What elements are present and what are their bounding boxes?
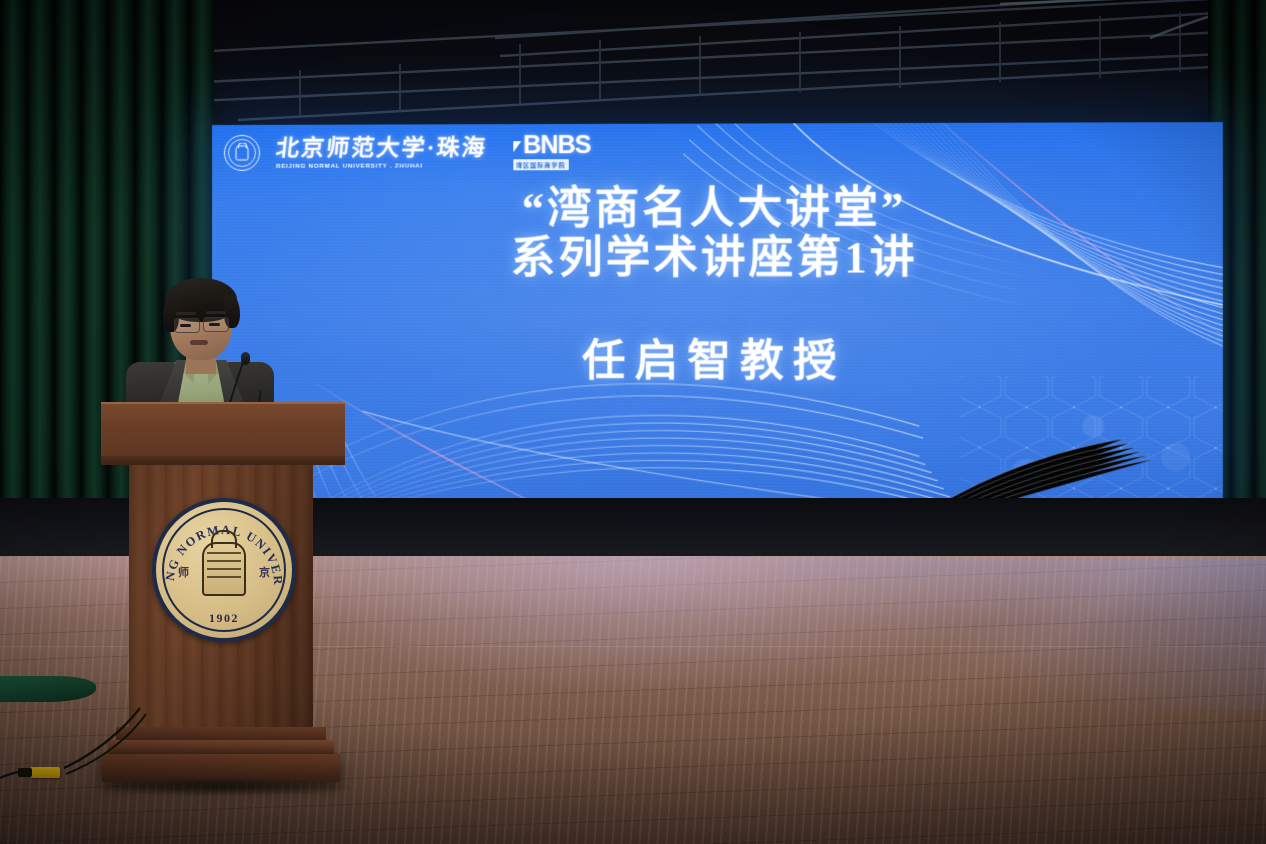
bnu-podium-emblem: BEIJING NORMAL UNIVERSITY 师 京 1902 [152, 498, 296, 642]
speaker-brow-right [206, 311, 226, 314]
auditorium-stage-scene: 北京师范大学·珠海 BEIJING NORMAL UNIVERSITY . ZH… [0, 0, 1266, 844]
green-floor-cloth [0, 676, 96, 702]
university-name-en: BEIJING NORMAL UNIVERSITY . ZHUHAI [276, 162, 487, 170]
power-adapter-yellow [30, 767, 60, 778]
university-wordmark: 北京师范大学·珠海 BEIJING NORMAL UNIVERSITY . ZH… [276, 136, 487, 170]
partner-logo: BNBS 湾区国际商学院 [513, 134, 591, 170]
bnu-seal-icon [224, 135, 260, 171]
emblem-bell-icon [202, 542, 246, 596]
partner-logo-mark: BNBS [513, 134, 591, 158]
slide-title-block: “湾商名人大讲堂” 系列学术讲座第1讲 任启智教授 [212, 183, 1223, 389]
led-presentation-screen: 北京师范大学·珠海 BEIJING NORMAL UNIVERSITY . ZH… [212, 122, 1223, 518]
microphone-head-icon [241, 352, 250, 365]
partner-logo-subtitle: 湾区国际商学院 [513, 159, 569, 170]
partner-logo-text: BNBS [523, 134, 591, 158]
speaker-eye-right [209, 323, 220, 326]
podium-top [101, 402, 345, 462]
partner-logo-triangle-icon [513, 141, 521, 152]
emblem-founding-year: 1902 [156, 611, 292, 626]
emblem-char-left: 师 [178, 564, 189, 580]
university-name-cn: 北京师范大学·珠海 [275, 136, 488, 160]
emblem-char-right: 京 [259, 564, 270, 580]
slide-title-line1: “湾商名人大讲堂” [212, 183, 1223, 234]
speaker-mouth [190, 340, 208, 345]
slide-speaker-name: 任启智教授 [212, 326, 1223, 389]
power-adapter-connector [18, 768, 32, 777]
speaker-eye-left [180, 324, 191, 327]
slide-title-line2: 系列学术讲座第1讲 [212, 233, 1223, 284]
podium-top-lip [101, 456, 345, 465]
floor-cables [0, 700, 360, 810]
speaker-brow-left [176, 312, 196, 315]
screen-header-logos: 北京师范大学·珠海 BEIJING NORMAL UNIVERSITY . ZH… [224, 134, 591, 171]
